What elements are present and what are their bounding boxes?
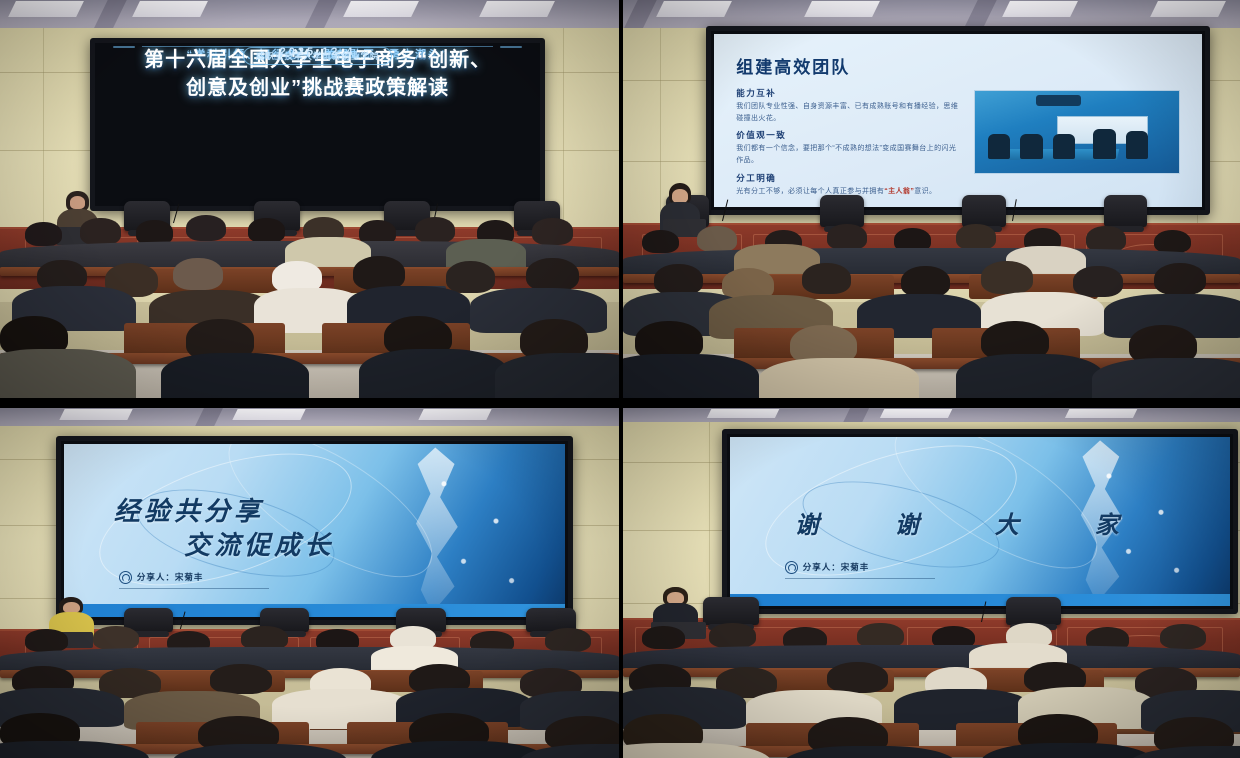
slide2-heading-3: 分工明确 xyxy=(736,172,961,184)
slide4-presenter: 分享人：宋菊丰 xyxy=(785,561,870,574)
led-screen: “学科引领、知行合一、敢想敢干、勇立潮头” 第十六届全国大学生电子商务“创新、 … xyxy=(98,46,538,203)
audience xyxy=(623,611,1240,758)
slide2-photo xyxy=(974,90,1180,174)
panel-top-left: “学科引领、知行合一、敢想敢干、勇立潮头” 第十六届全国大学生电子商务“创新、 … xyxy=(0,0,619,398)
lecture-hall-room: 谢 谢 大 家 分享人：宋菊丰 xyxy=(623,408,1240,758)
slide3-presenter-label: 分享人：宋菊丰 xyxy=(137,571,204,583)
slide4-thanks: 谢 谢 大 家 xyxy=(795,505,1145,540)
slide-ink-wash: 经验共分享 交流促成长 分享人：宋菊丰 xyxy=(64,444,566,617)
slide2-highlight: “主人翁” xyxy=(884,188,914,195)
slide3-line2: 交流促成长 xyxy=(184,525,334,562)
slide2-heading-2: 价值观一致 xyxy=(736,129,961,141)
audience xyxy=(0,618,619,758)
slide1-title-line2: 创意及创业”挑战赛政策解读 xyxy=(124,74,511,102)
slide4-presenter-label: 分享人：宋菊丰 xyxy=(803,561,870,573)
led-screen-frame: 谢 谢 大 家 分享人：宋菊丰 xyxy=(722,429,1238,614)
slide2-body-1: 我们团队专业性强、自身资源丰富、已有成熟账号和有播经验，思维碰撞出火花。 xyxy=(736,101,961,124)
lecture-hall-room: “学科引领、知行合一、敢想敢干、勇立潮头” 第十六届全国大学生电子商务“创新、 … xyxy=(0,0,619,398)
panel-bottom-left: 经验共分享 交流促成长 分享人：宋菊丰 xyxy=(0,408,619,758)
slide2-body-3-text: 光有分工不够，必须让每个人真正参与并拥有 xyxy=(736,188,884,195)
led-screen-frame: “学科引领、知行合一、敢想敢干、勇立潮头” 第十六届全国大学生电子商务“创新、 … xyxy=(90,38,546,211)
person-icon xyxy=(785,561,798,574)
slide2-body-3-tail: 意识。 xyxy=(914,188,936,195)
led-screen: 组建高效团队 能力互补 我们团队专业性强、自身资源丰富、已有成熟账号和有播经验，… xyxy=(714,34,1202,207)
led-screen: 经验共分享 交流促成长 分享人：宋菊丰 xyxy=(64,444,566,617)
audience xyxy=(0,211,619,398)
slide2-text-column: 能力互补 我们团队专业性强、自身资源丰富、已有成熟账号和有播经验，思维碰撞出火花… xyxy=(736,82,961,197)
lecture-hall-room: 组建高效团队 能力互补 我们团队专业性强、自身资源丰富、已有成熟账号和有播经验，… xyxy=(623,0,1240,398)
photo-collage: “学科引领、知行合一、敢想敢干、勇立潮头” 第十六届全国大学生电子商务“创新、 … xyxy=(0,0,1240,758)
slide-closing: 谢 谢 大 家 分享人：宋菊丰 xyxy=(730,437,1230,606)
audience xyxy=(623,215,1240,398)
lecture-hall-room: 经验共分享 交流促成长 分享人：宋菊丰 xyxy=(0,408,619,758)
slide3-presenter: 分享人：宋菊丰 xyxy=(119,571,204,584)
projector-icon xyxy=(1036,95,1081,106)
panel-top-right: 组建高效团队 能力互补 我们团队专业性强、自身资源丰富、已有成熟账号和有播经验，… xyxy=(623,0,1240,398)
panel-bottom-right: 谢 谢 大 家 分享人：宋菊丰 xyxy=(623,408,1240,758)
horizontal-divider xyxy=(0,398,1240,408)
led-screen: 谢 谢 大 家 分享人：宋菊丰 xyxy=(730,437,1230,606)
person-icon xyxy=(119,571,132,584)
slide3-line1: 经验共分享 xyxy=(114,491,264,528)
slide2-body-2: 我们都有一个信念，要把那个“不成熟的想法”变成国赛舞台上的闪光作品。 xyxy=(736,143,961,166)
led-screen-frame: 经验共分享 交流促成长 分享人：宋菊丰 xyxy=(56,436,574,625)
led-screen-frame: 组建高效团队 能力互补 我们团队专业性强、自身资源丰富、已有成熟账号和有播经验，… xyxy=(706,26,1210,215)
slide2-title: 组建高效团队 xyxy=(736,53,1180,78)
slide2-heading-1: 能力互补 xyxy=(736,87,961,99)
slide1-date: 2025.12.4 xyxy=(98,46,538,58)
slide-content: 组建高效团队 能力互补 我们团队专业性强、自身资源丰富、已有成熟账号和有播经验，… xyxy=(714,34,1202,207)
